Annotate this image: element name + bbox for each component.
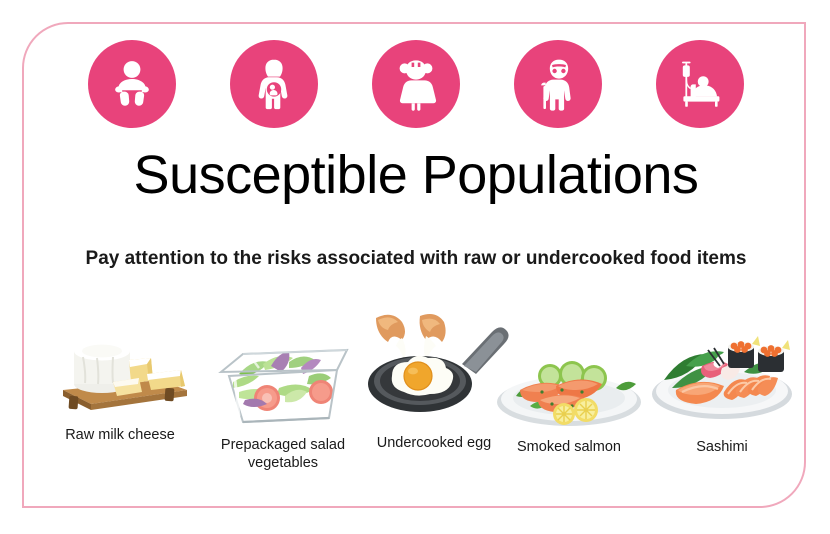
baby-icon xyxy=(105,57,159,111)
pregnant-woman-icon xyxy=(247,57,301,111)
elderly-person-icon xyxy=(531,57,585,111)
population-icon-pregnant-woman xyxy=(230,40,318,128)
susceptible-population-icon-row xyxy=(24,40,808,128)
salad-container-icon xyxy=(209,340,357,428)
young-girl-icon xyxy=(389,57,443,111)
poster-frame: Susceptible Populations Pay attention to… xyxy=(22,22,806,508)
poster-title: Susceptible Populations xyxy=(24,144,808,206)
population-icon-hospital-patient xyxy=(656,40,744,128)
smoked-salmon-plate-icon xyxy=(490,344,648,430)
population-icon-young-girl xyxy=(372,40,460,128)
food-caption: Raw milk cheese xyxy=(26,426,214,444)
risky-food-row: Raw milk cheese xyxy=(24,310,808,500)
hospital-patient-icon xyxy=(673,57,727,111)
food-item-sashimi: Sashimi xyxy=(636,332,808,456)
food-art xyxy=(636,332,808,428)
poster-subtitle: Pay attention to the risks associated wi… xyxy=(24,246,808,272)
food-art xyxy=(192,340,374,428)
population-icon-elderly-person xyxy=(514,40,602,128)
population-icon-baby xyxy=(88,40,176,128)
sashimi-plate-icon xyxy=(646,332,798,428)
food-item-smoked-salmon: Smoked salmon xyxy=(480,344,658,456)
food-item-prepackaged-salad: Prepackaged salad vegetables xyxy=(192,340,374,472)
food-art xyxy=(26,324,214,418)
food-art xyxy=(480,344,658,430)
food-caption: Prepackaged salad vegetables xyxy=(192,436,374,472)
food-caption: Smoked salmon xyxy=(480,438,658,456)
cheese-board-icon xyxy=(47,324,193,418)
food-item-raw-milk-cheese: Raw milk cheese xyxy=(26,324,214,444)
food-caption: Sashimi xyxy=(636,438,808,456)
